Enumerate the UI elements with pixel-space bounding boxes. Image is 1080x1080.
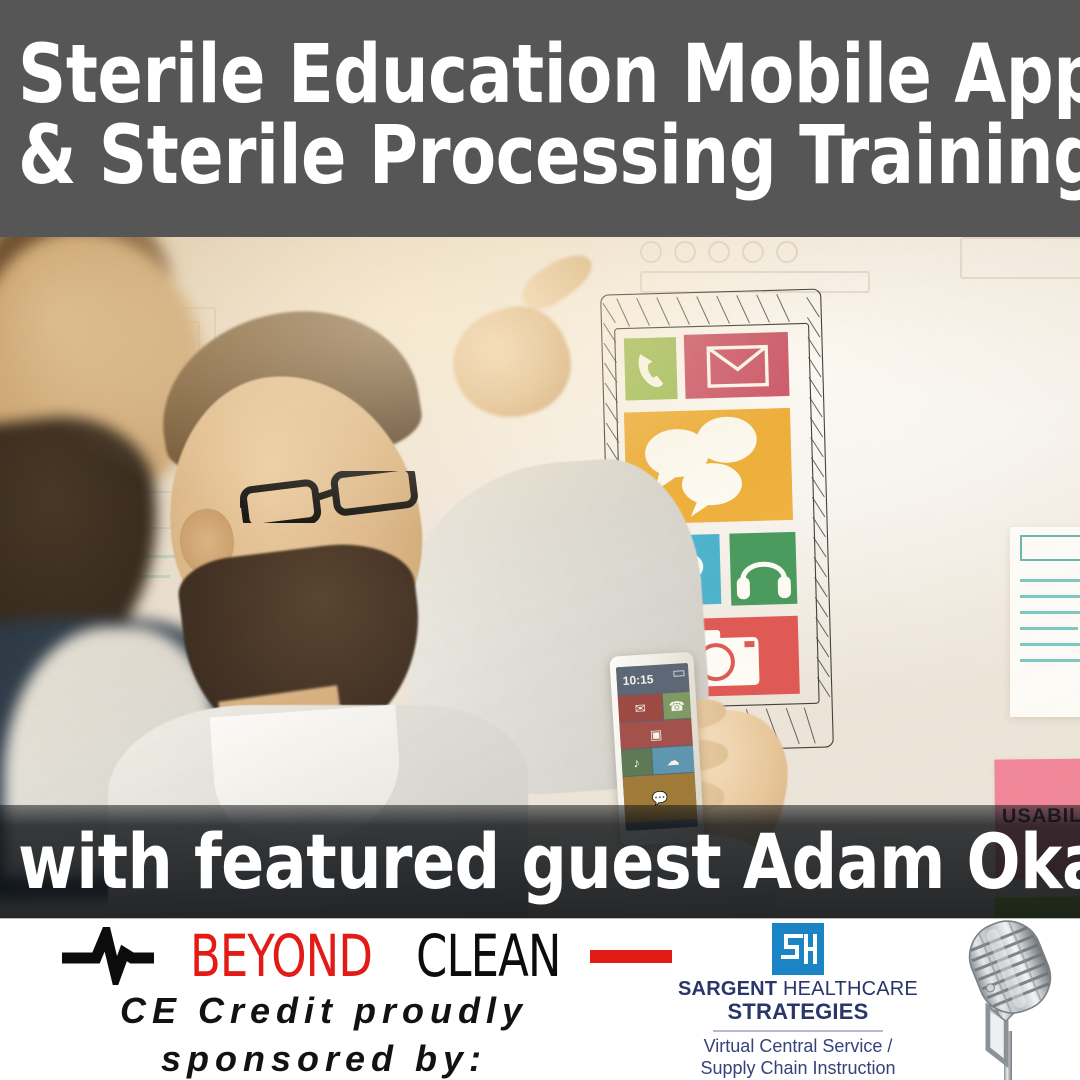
beyond-clean-block: BEYOND CLEAN CE Credit proudly sponsored…	[0, 919, 648, 1080]
clean-wordmark: CLEAN	[416, 927, 561, 985]
microphone-svg	[948, 919, 1080, 1080]
smartphone-tile-row-2: ▣	[619, 719, 692, 749]
sargent-sh-monogram-icon	[772, 923, 824, 975]
sketch-tile-envelope	[684, 332, 790, 399]
title-line-1: Sterile Education Mobile App	[18, 35, 982, 115]
smartphone-tile-row-3: ♪ ☁	[621, 746, 694, 776]
sargent-tagline-line-1: Virtual Central Service /	[648, 1036, 948, 1058]
sargent-tagline: Virtual Central Service / Supply Chain I…	[648, 1036, 948, 1080]
tile-cloud-icon[interactable]: ☁	[652, 746, 695, 774]
vintage-microphone-icon	[948, 919, 1080, 1080]
sargent-divider	[713, 1030, 883, 1032]
tile-phone-icon[interactable]: ☎	[662, 692, 691, 720]
eyeglasses	[240, 471, 438, 523]
eyeglasses-svg	[240, 471, 438, 523]
pointing-hand-palm	[440, 294, 584, 433]
sponsor-footer: BEYOND CLEAN CE Credit proudly sponsored…	[0, 918, 1080, 1080]
title-line-2: & Sterile Processing Training	[18, 116, 982, 196]
sargent-healthcare-block: SARGENT HEALTHCARE STRATEGIES Virtual Ce…	[648, 921, 948, 1080]
ce-credit-line-2: sponsored by:	[0, 1035, 648, 1080]
battery-icon	[673, 670, 684, 677]
heartbeat-ekg-icon	[62, 927, 190, 985]
beyond-wordmark: BEYOND	[190, 927, 372, 985]
paper-chart	[1010, 527, 1080, 717]
featured-guest-band: with featured guest Adam Okada	[0, 805, 1080, 918]
ce-credit-text: CE Credit proudly sponsored by:	[0, 987, 648, 1080]
pointing-hand	[432, 257, 612, 427]
smartphone-clock: 10:15	[622, 672, 654, 688]
sargent-name-line-1: SARGENT HEALTHCARE	[648, 978, 948, 1000]
smartphone-status-bar: 10:15	[616, 663, 690, 695]
featured-guest-text: with featured guest Adam Okada	[18, 824, 1080, 900]
wireframe-sketch-topright	[960, 237, 1080, 283]
strategies-word: STRATEGIES	[648, 1000, 948, 1024]
beyond-clean-logo: BEYOND CLEAN	[62, 925, 642, 987]
title-band: Sterile Education Mobile App & Sterile P…	[0, 0, 1080, 237]
sh-monogram-svg	[772, 923, 824, 975]
tile-headphones-icon[interactable]: ♪	[621, 748, 652, 776]
healthcare-light-word: HEALTHCARE	[783, 978, 918, 1000]
smartphone-tile-row-1: ✉ ☎	[618, 692, 691, 722]
tile-camera-icon[interactable]: ▣	[619, 719, 692, 749]
sargent-bold-word: SARGENT	[678, 978, 777, 1000]
ce-credit-line-1: CE Credit proudly	[0, 987, 648, 1035]
sketch-tile-phone	[624, 337, 678, 400]
sargent-tagline-line-2: Supply Chain Instruction	[648, 1058, 948, 1080]
podcast-promo-poster: Sterile Education Mobile App & Sterile P…	[0, 0, 1080, 1080]
tile-envelope-icon[interactable]: ✉	[618, 694, 663, 723]
